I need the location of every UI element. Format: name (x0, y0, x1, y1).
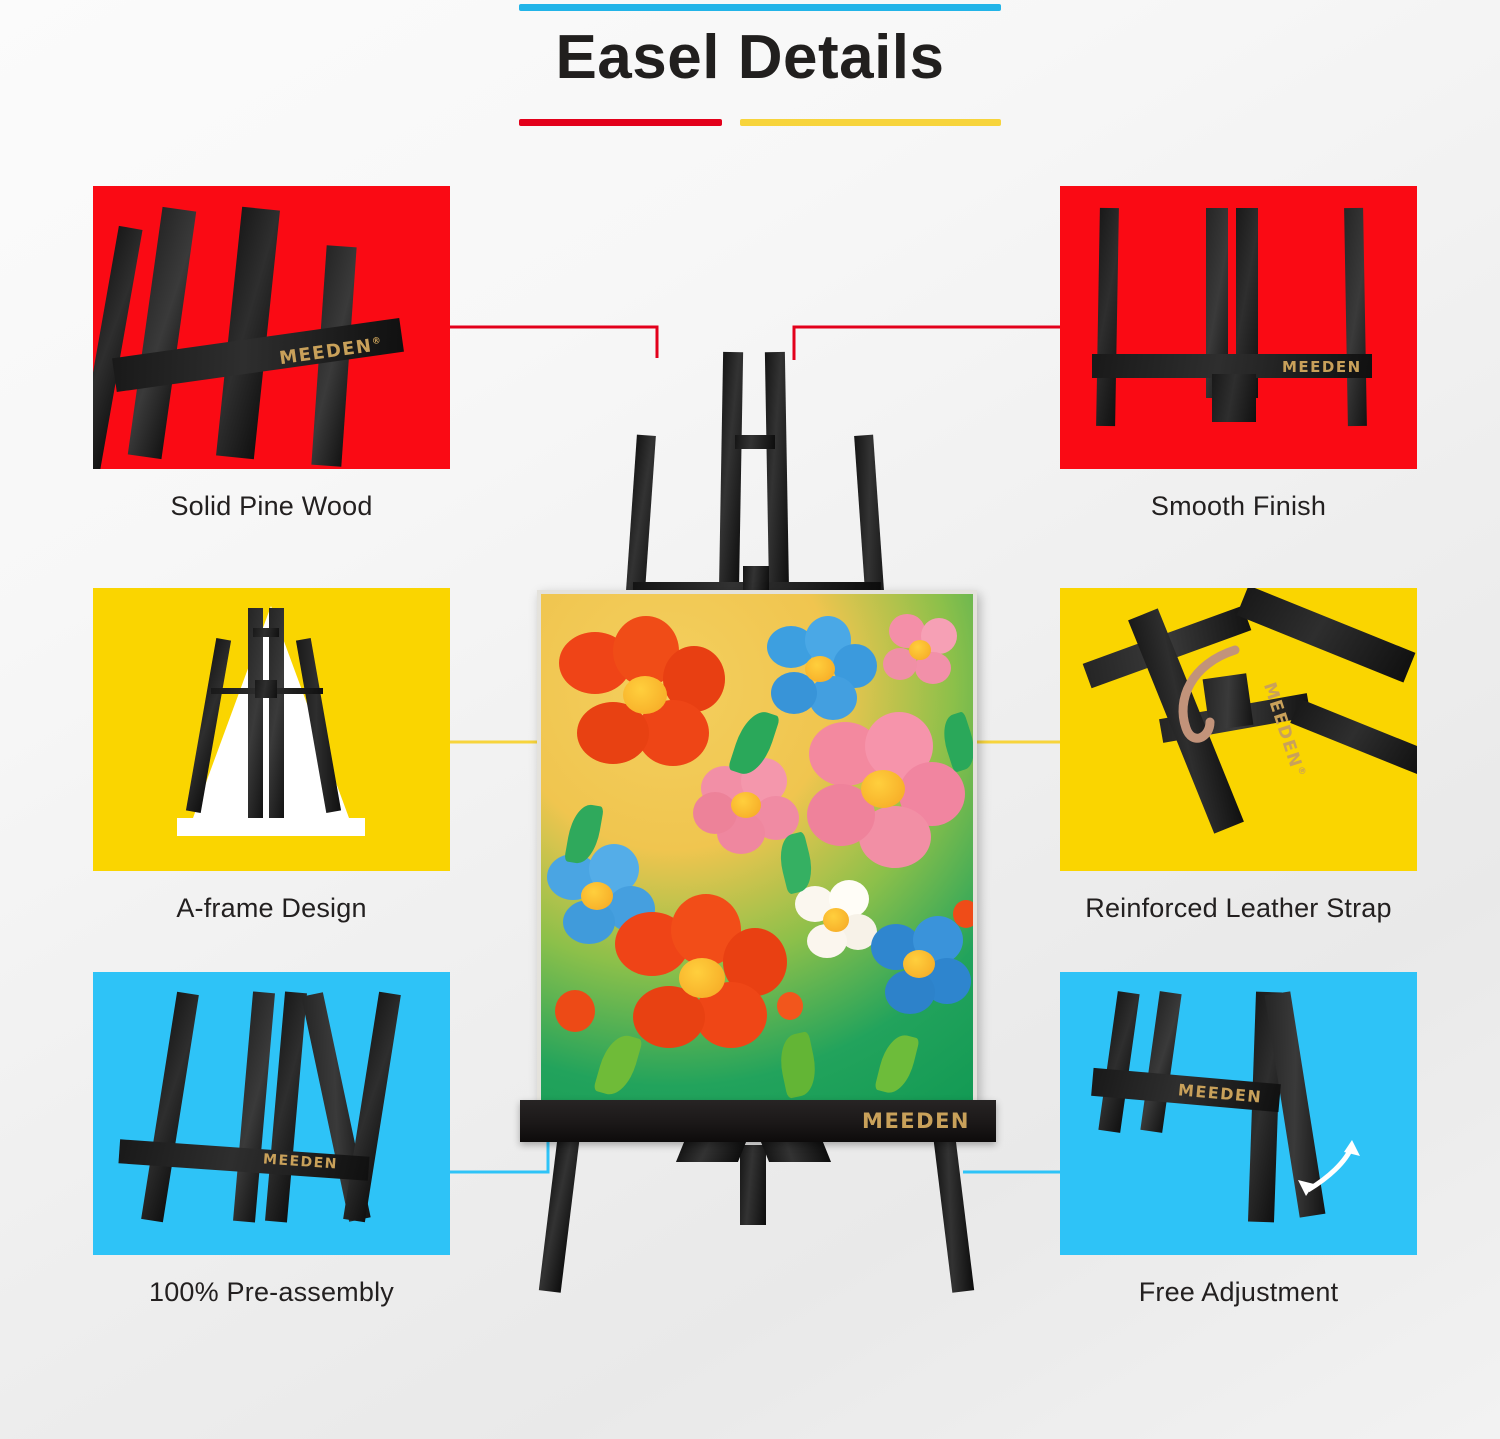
feature-image-solid-pine-wood: MEEDEN® (93, 186, 450, 469)
center-block (255, 680, 277, 698)
flower-center (909, 640, 931, 660)
leather-strap (1060, 588, 1417, 871)
center-crossbar (253, 628, 279, 637)
flower-center (861, 770, 905, 808)
wood-leg (343, 992, 401, 1223)
leaf (593, 1031, 643, 1100)
easel-center-post-right (765, 352, 789, 597)
easel-center-crossbar (735, 435, 775, 449)
leaf (775, 1031, 821, 1099)
flower-center (581, 882, 613, 910)
easel-tray-bar: MEEDEN (520, 1100, 996, 1142)
easel-center-post-left (719, 352, 743, 597)
easel-front-right-foot (934, 1139, 974, 1293)
meeden-logo: MEEDEN (862, 1109, 970, 1133)
meeden-logo: MEEDEN (1282, 358, 1362, 376)
feature-a-frame-design[interactable]: A-frame Design (93, 588, 450, 924)
feature-label: Smooth Finish (1060, 491, 1417, 522)
flower-center (679, 958, 725, 998)
wood-leg (141, 992, 199, 1223)
feature-image-free-adjustment: MEEDEN (1060, 972, 1417, 1255)
feature-pre-assembly[interactable]: MEEDEN 100% Pre-assembly (93, 972, 450, 1308)
feature-smooth-finish[interactable]: MEEDEN Smooth Finish (1060, 186, 1417, 522)
leaf (874, 1031, 920, 1097)
feature-image-smooth-finish: MEEDEN (1060, 186, 1417, 469)
bud-orange (953, 900, 977, 928)
flower-pink-3 (693, 792, 737, 834)
center-post-right (269, 608, 284, 818)
feature-label: 100% Pre-assembly (93, 1277, 450, 1308)
easel-front-left-foot (539, 1139, 579, 1293)
easel-rear-brace-right (761, 1142, 831, 1162)
feature-solid-pine-wood[interactable]: MEEDEN® Solid Pine Wood (93, 186, 450, 522)
accent-rule-cyan (519, 4, 1001, 11)
feature-label: Solid Pine Wood (93, 491, 450, 522)
wood-leg (1096, 208, 1119, 426)
feature-reinforced-leather-strap[interactable]: MEEDEN® Reinforced Leather Strap (1060, 588, 1417, 924)
center-post-left (248, 608, 263, 818)
feature-label: Reinforced Leather Strap (1060, 893, 1417, 924)
flower-center (903, 950, 935, 978)
easel-rear-support (740, 1145, 766, 1225)
flower-center (805, 656, 835, 682)
flower-blue-3 (885, 970, 935, 1014)
wood-leg (216, 207, 280, 460)
feature-image-reinforced-leather-strap: MEEDEN® (1060, 588, 1417, 871)
feature-image-pre-assembly: MEEDEN (93, 972, 450, 1255)
wood-leg (1344, 208, 1367, 426)
accent-rule-yellow (740, 119, 1001, 126)
flower-center (823, 908, 849, 932)
bud-orange (777, 992, 803, 1020)
canvas-artwork (537, 590, 977, 1105)
feature-free-adjustment[interactable]: MEEDEN Free Adjustment (1060, 972, 1417, 1308)
feature-image-a-frame-design (93, 588, 450, 871)
page-title: Easel Details (0, 22, 1500, 93)
center-foot (1212, 374, 1256, 422)
accent-rule-red (519, 119, 722, 126)
adjustment-arrow-icon (1060, 972, 1417, 1255)
feature-label: A-frame Design (93, 893, 450, 924)
feature-label: Free Adjustment (1060, 1277, 1417, 1308)
header: Easel Details (0, 0, 1500, 170)
flower-center (623, 676, 667, 714)
easel-rear-brace-left (676, 1142, 746, 1162)
flower-center (731, 792, 761, 818)
bud-orange (555, 990, 595, 1032)
